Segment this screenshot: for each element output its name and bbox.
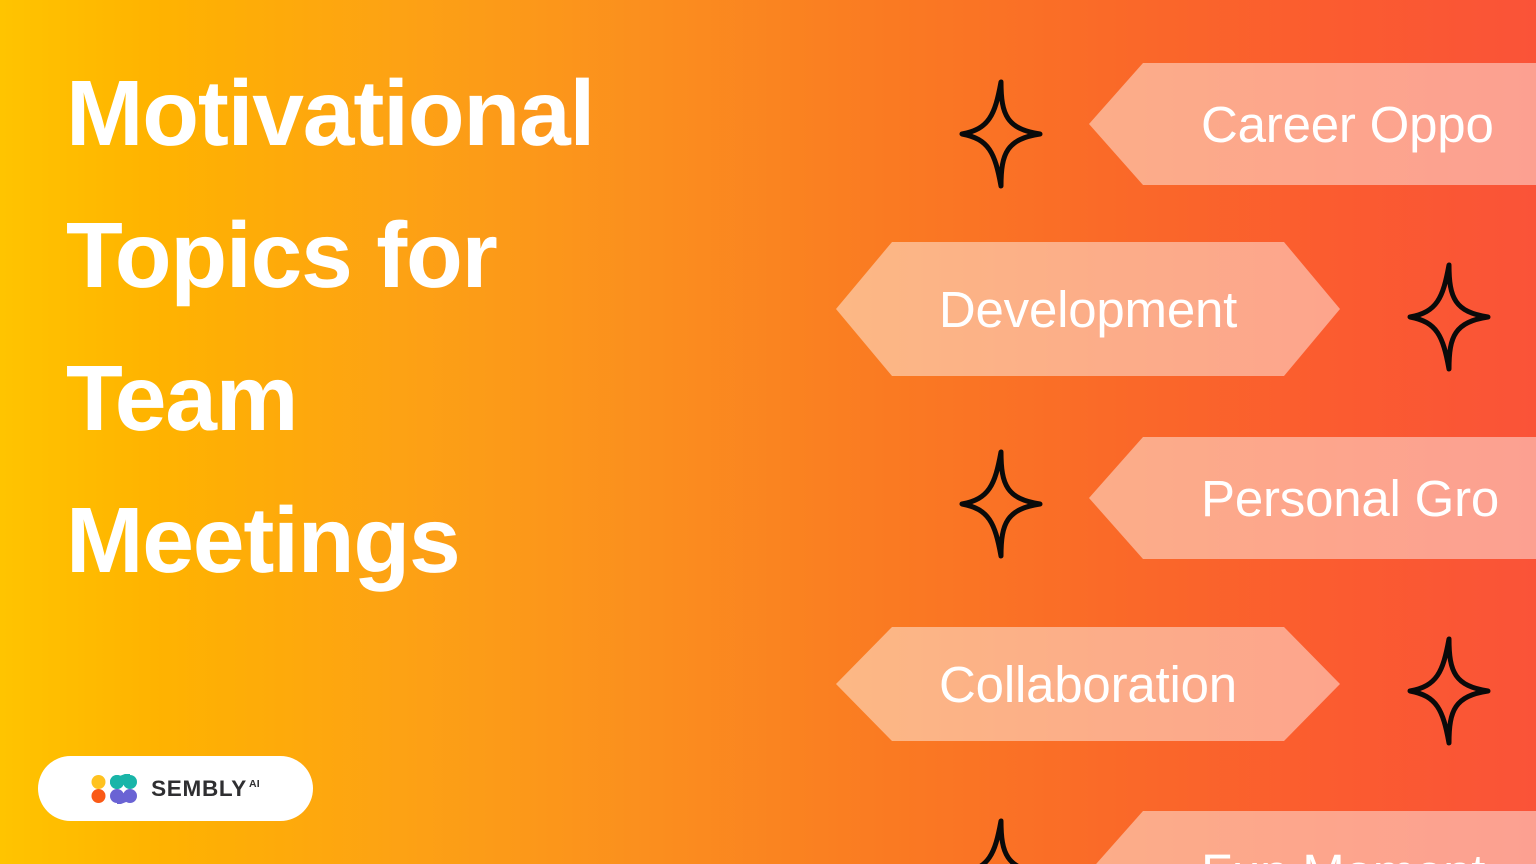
brand-suffix: AI	[249, 778, 260, 790]
topic-tag-personal-growth[interactable]: Personal Gro	[1089, 437, 1536, 559]
topic-tag-label: Fun Moment	[1201, 843, 1485, 864]
topic-tag-label: Collaboration	[939, 655, 1237, 714]
topic-tag-collaboration[interactable]: Collaboration	[836, 627, 1340, 741]
topic-tag-career-opportunities[interactable]: Career Oppo	[1089, 63, 1536, 185]
brand-wordmark: SEMBLYAI	[151, 776, 260, 802]
four-pointed-star-icon	[1407, 636, 1491, 746]
topic-tag-label: Development	[939, 280, 1237, 339]
four-pointed-star-icon	[959, 79, 1043, 189]
topic-tag-development[interactable]: Development	[836, 242, 1340, 376]
topic-tag-label: Career Oppo	[1201, 95, 1494, 154]
four-pointed-star-icon	[959, 449, 1043, 559]
slide-canvas: Motivational Topics for Team Meetings Ca…	[0, 0, 1536, 864]
brand-name: SEMBLY	[151, 776, 247, 801]
sembly-four-dot-logo-icon	[91, 774, 137, 804]
four-pointed-star-icon	[959, 818, 1043, 864]
page-title: Motivational Topics for Team Meetings	[66, 42, 726, 611]
topic-tag-label: Personal Gro	[1201, 469, 1499, 528]
topic-tag-fun-moments[interactable]: Fun Moment	[1089, 811, 1536, 864]
brand-logo-pill[interactable]: SEMBLYAI	[38, 756, 313, 821]
four-pointed-star-icon	[1407, 262, 1491, 372]
